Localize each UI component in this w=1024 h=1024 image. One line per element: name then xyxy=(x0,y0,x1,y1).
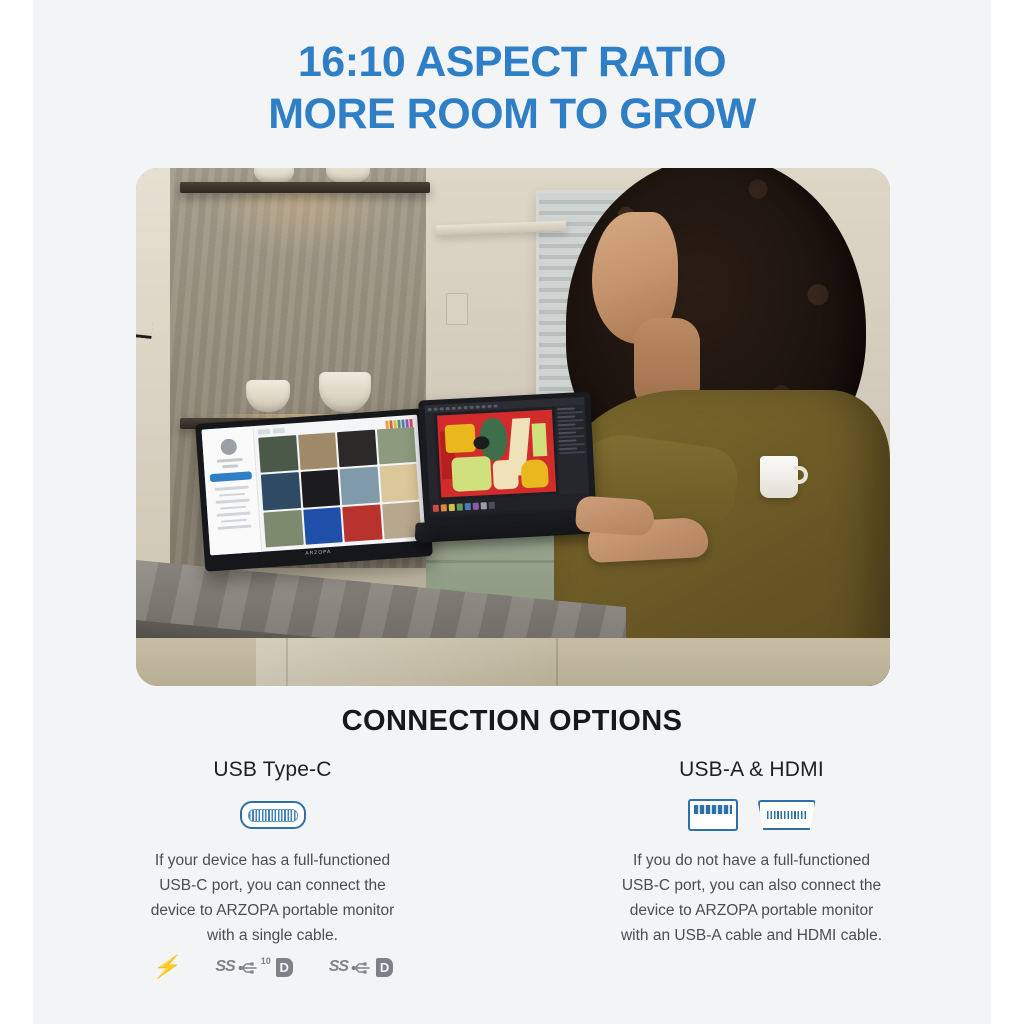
column-title: USB-A & HDMI xyxy=(512,758,991,782)
subject-hand xyxy=(575,495,655,536)
photo-tile xyxy=(298,432,338,470)
monitor-screen xyxy=(202,415,426,556)
shelf-glow-upper xyxy=(196,188,406,258)
connection-option-usb-a-hdmi: USB-A & HDMI If you do not have a full-f… xyxy=(512,758,991,948)
sidebar-list-item xyxy=(216,512,250,517)
monitor-body: ARZOPA xyxy=(195,408,433,572)
toolbar-chip xyxy=(258,429,270,435)
usb-trident-icon xyxy=(351,959,373,975)
usb-speed-label: 10 xyxy=(261,956,271,966)
avatar xyxy=(220,438,237,455)
cabinet-seam-right xyxy=(556,638,558,686)
headline-line-2: MORE ROOM TO GROW xyxy=(33,88,991,140)
description-line: with a single cable. xyxy=(33,923,512,948)
certification-badge-row: ⚡ SS xyxy=(33,956,512,978)
photo-tile xyxy=(376,427,416,465)
description-line: USB-C port, you can also connect the xyxy=(512,873,991,898)
power-delivery-bolt-icon: ⚡ xyxy=(152,956,179,978)
photo-tile xyxy=(300,470,340,508)
sidebar-primary-button xyxy=(209,471,251,482)
displayport-icon: D xyxy=(376,958,393,977)
displayport-icon: D xyxy=(276,958,293,977)
section-title: CONNECTION OPTIONS xyxy=(33,705,991,738)
photo-tile xyxy=(379,464,419,502)
sidebar-list-item xyxy=(214,486,248,491)
app-properties-panel xyxy=(555,405,590,494)
product-card: 16:10 ASPECT RATIO MORE ROOM TO GROW xyxy=(33,0,991,1024)
usb-a-port-icon xyxy=(688,799,738,831)
description-line: with an USB-A cable and HDMI cable. xyxy=(512,923,991,948)
profile-sub-line xyxy=(222,464,238,468)
profile-name-line xyxy=(216,458,242,463)
brand-logo: ARZOPA xyxy=(305,549,332,557)
photo-tile xyxy=(303,507,343,545)
photo-tile xyxy=(258,435,298,473)
arzopa-portable-monitor: ARZOPA xyxy=(195,408,433,572)
superspeed-label: SS xyxy=(329,958,348,976)
laptop-lid xyxy=(418,392,596,527)
lifestyle-photo: ARZOPA xyxy=(136,168,890,686)
headline-line-1: 16:10 ASPECT RATIO xyxy=(33,36,991,88)
connection-columns: USB Type-C If your device has a full-fun… xyxy=(33,758,991,948)
superspeed-usb-dp-icon: SS D xyxy=(329,958,393,977)
photo-grid xyxy=(258,427,421,548)
laptop-screen xyxy=(424,397,590,518)
port-icon-row xyxy=(33,798,512,832)
photo-tile xyxy=(263,510,303,548)
photo-tile xyxy=(337,430,377,468)
port-icon-row xyxy=(512,798,991,832)
coffee-mug xyxy=(760,456,798,498)
page-title: 16:10 ASPECT RATIO MORE ROOM TO GROW xyxy=(33,36,991,140)
usb-c-port-icon xyxy=(240,801,306,829)
artwork-canvas xyxy=(437,410,556,498)
photo-tile xyxy=(342,504,382,542)
sidebar-list-item xyxy=(219,505,245,509)
cabinet-seam-left xyxy=(286,638,288,686)
wall-left-edge xyxy=(136,168,170,588)
photo-tile xyxy=(261,472,301,510)
usb-trident-icon xyxy=(238,959,260,975)
sidebar-list-item xyxy=(220,518,246,522)
description-line: device to ARZOPA portable monitor xyxy=(33,898,512,923)
hdmi-port-icon xyxy=(758,800,816,830)
description-line: If your device has a full-functioned xyxy=(33,848,512,873)
column-title: USB Type-C xyxy=(33,758,512,782)
gallery-main xyxy=(253,415,425,552)
cabinet-highlight xyxy=(256,638,556,686)
laptop xyxy=(418,392,598,551)
sidebar-list-item xyxy=(219,492,245,496)
description-line: USB-C port, you can connect the xyxy=(33,873,512,898)
app-workspace xyxy=(425,405,589,501)
column-description: If your device has a full-functioned USB… xyxy=(33,848,512,948)
marketing-page: 16:10 ASPECT RATIO MORE ROOM TO GROW xyxy=(0,0,1024,1024)
description-line: If you do not have a full-functioned xyxy=(512,848,991,873)
floating-shelf-upper xyxy=(180,182,430,193)
sidebar-list-item xyxy=(217,524,251,529)
description-line: device to ARZOPA portable monitor xyxy=(512,898,991,923)
wall-outlet xyxy=(446,293,468,325)
toolbar-chip xyxy=(273,428,285,434)
superspeed-label: SS xyxy=(215,958,234,976)
column-description: If you do not have a full-functioned USB… xyxy=(512,848,991,948)
photo-tile xyxy=(340,467,380,505)
sidebar-list-item xyxy=(215,499,249,504)
connection-option-usb-c: USB Type-C If your device has a full-fun… xyxy=(33,758,512,948)
gallery-sidebar xyxy=(202,426,263,555)
app-tool-panel xyxy=(425,413,439,501)
superspeed-usb-10gbps-dp-icon: SS 10 xyxy=(215,958,292,977)
